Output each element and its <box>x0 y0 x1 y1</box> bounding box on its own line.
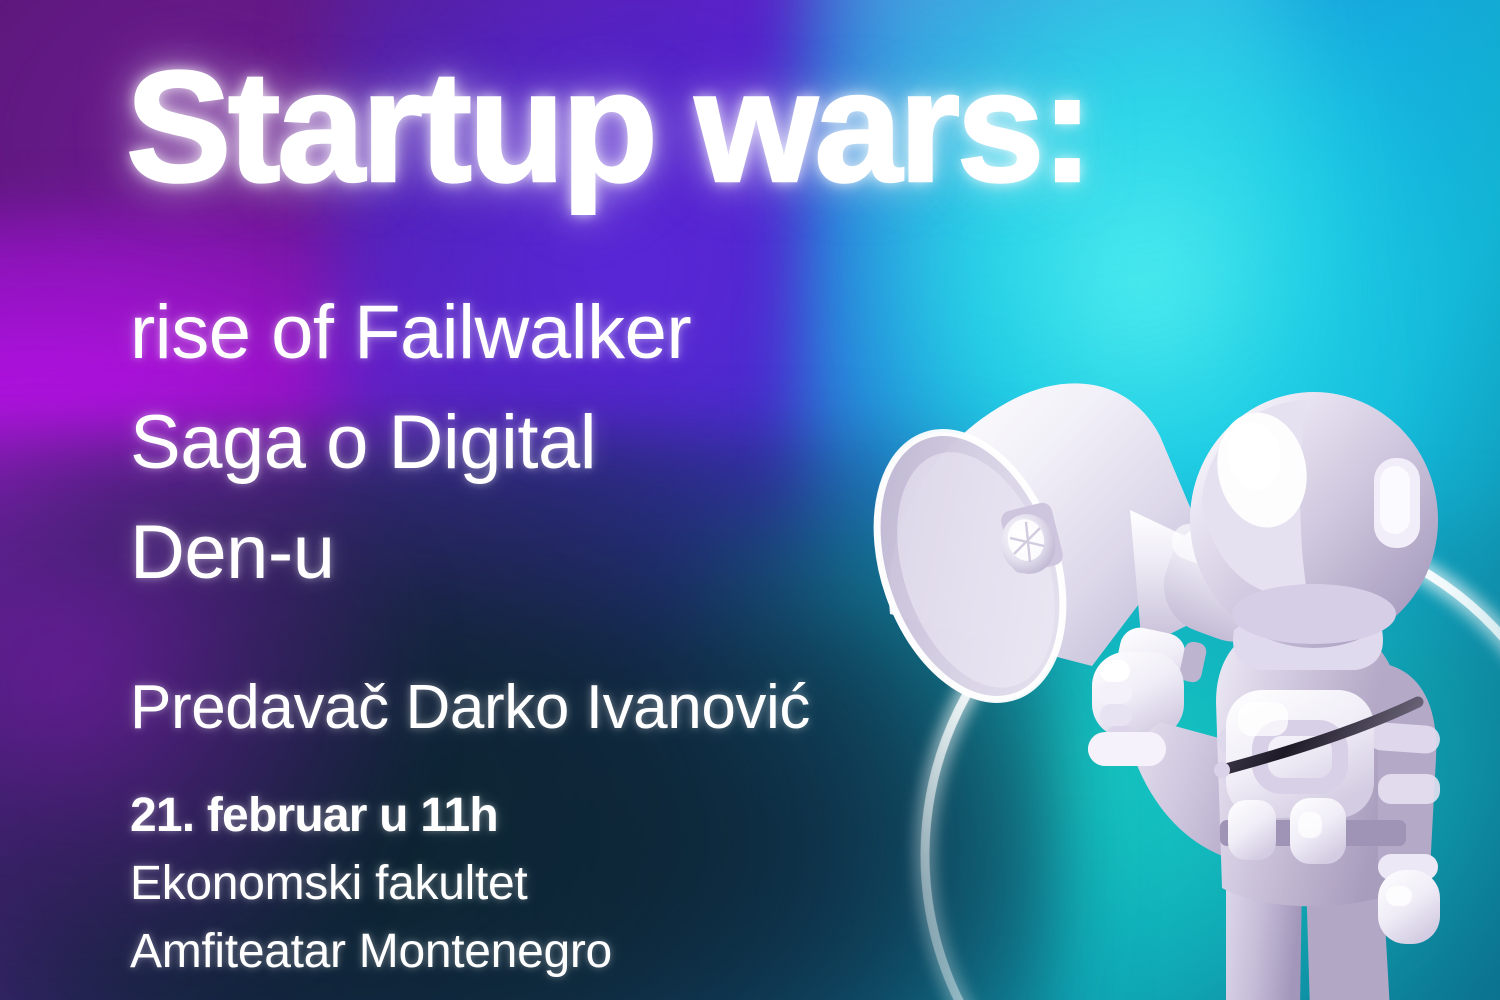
event-venue: Ekonomski fakultet <box>130 850 612 918</box>
subtitle-line-1: rise of Failwalker <box>130 278 691 388</box>
poster-text-content: Startup wars: rise of Failwalker Saga o … <box>126 0 1126 1000</box>
subtitle-line-3: Den-u <box>130 498 691 608</box>
event-details-block: 21. februar u 11h Ekonomski fakultet Amf… <box>130 782 612 986</box>
event-room: Amfiteatar Montenegro <box>130 918 612 986</box>
event-poster: Startup wars: rise of Failwalker Saga o … <box>0 0 1500 1000</box>
subtitle-line-2: Saga o Digital <box>130 388 691 498</box>
page-title: Startup wars: <box>126 48 1090 206</box>
event-datetime: 21. februar u 11h <box>130 782 612 850</box>
speaker-name: Predavač Darko Ivanović <box>130 672 810 743</box>
subtitle-block: rise of Failwalker Saga o Digital Den-u <box>130 278 691 609</box>
